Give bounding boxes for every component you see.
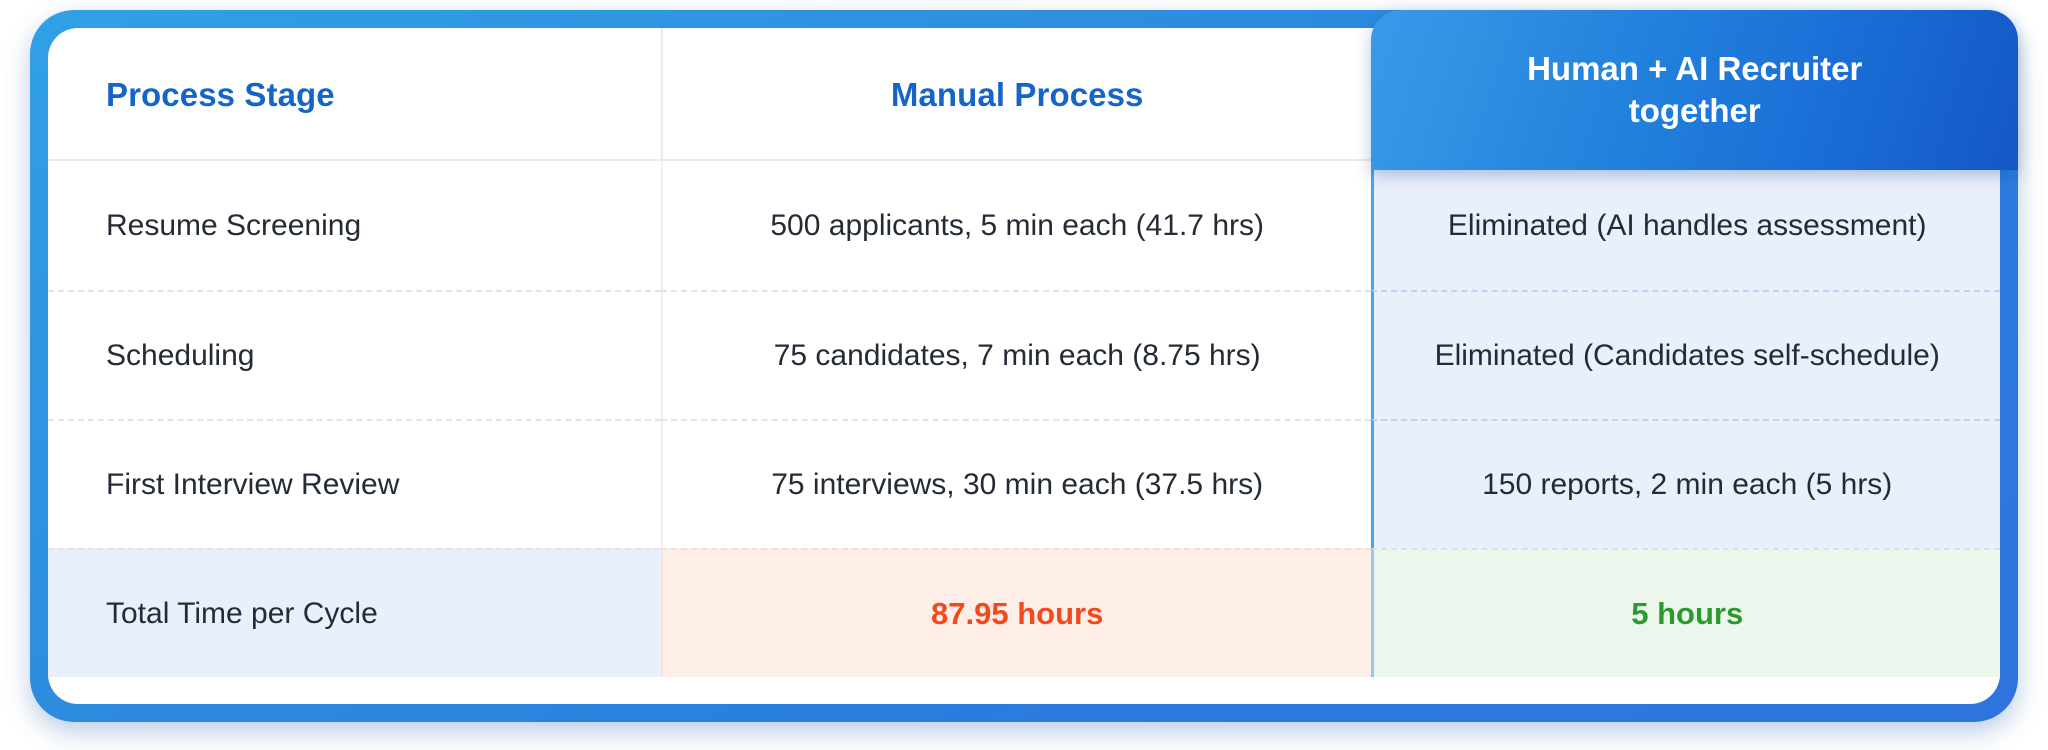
cell-manual: 75 interviews, 30 min each (37.5 hrs) (661, 419, 1372, 548)
cell-manual: 500 applicants, 5 min each (41.7 hrs) (661, 161, 1372, 290)
highlight-header-line-1: Human + AI Recruiter (1527, 50, 1862, 87)
cell-human-ai: 150 reports, 2 min each (5 hrs) (1371, 419, 2000, 548)
header-cell-process-stage: Process Stage (48, 28, 661, 161)
header-cell-manual-process: Manual Process (661, 28, 1372, 161)
cell-human-ai: Eliminated (Candidates self-schedule) (1371, 290, 2000, 419)
cell-total-human-ai-hours: 5 hours (1371, 548, 2000, 677)
highlight-header-line-2: together (1629, 92, 1761, 129)
table-row: Scheduling 75 candidates, 7 min each (8.… (48, 290, 2000, 419)
cell-total-stage-label: Total Time per Cycle (48, 548, 661, 677)
comparison-table-frame: Process Stage Manual Process Resume Scre… (30, 10, 2018, 722)
cell-stage: Resume Screening (48, 161, 661, 290)
cell-stage: Scheduling (48, 290, 661, 419)
cell-total-manual-hours: 87.95 hours (661, 548, 1372, 677)
highlight-header-text: Human + AI Recruiter together (1527, 48, 1862, 132)
cell-human-ai: Eliminated (AI handles assessment) (1371, 161, 2000, 290)
table-row: Resume Screening 500 applicants, 5 min e… (48, 161, 2000, 290)
comparison-table-card: Process Stage Manual Process Resume Scre… (48, 28, 2000, 704)
cell-manual: 75 candidates, 7 min each (8.75 hrs) (661, 290, 1372, 419)
table-row: First Interview Review 75 interviews, 30… (48, 419, 2000, 548)
header-cell-human-ai-recruiter: Human + AI Recruiter together (1371, 10, 2018, 170)
cell-stage: First Interview Review (48, 419, 661, 548)
table-total-row: Total Time per Cycle 87.95 hours 5 hours (48, 548, 2000, 677)
